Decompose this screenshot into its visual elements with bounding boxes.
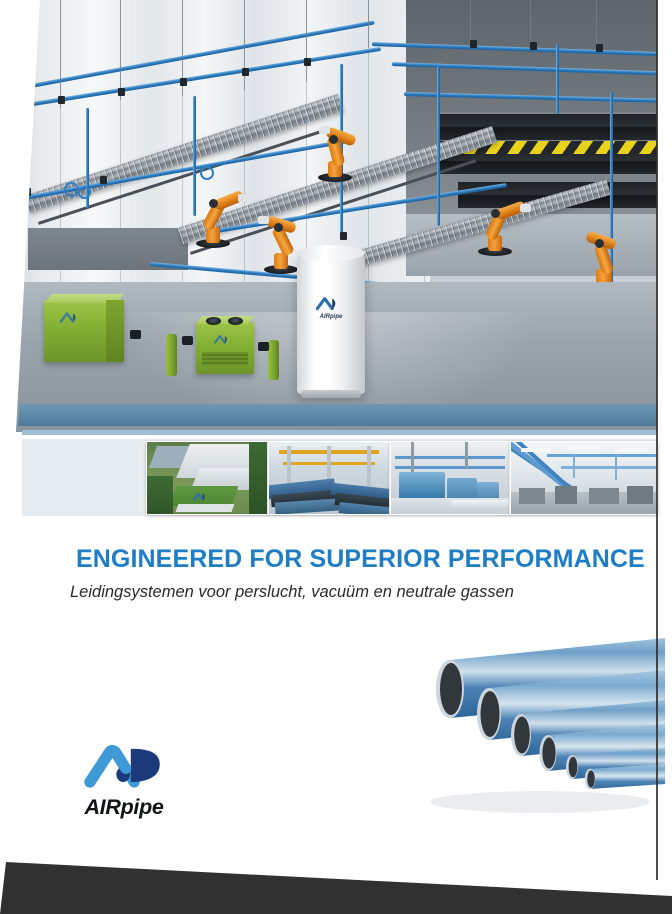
pipe-clamp <box>118 88 125 96</box>
air-hose-reel <box>200 166 214 180</box>
tank-logo: AIRpipe <box>314 296 348 320</box>
green-dryer-top <box>196 316 254 324</box>
dryer-logo <box>214 332 234 344</box>
compressor-logo <box>60 310 84 324</box>
dryer-fan <box>228 317 243 325</box>
brochure-cover-page: AIRpipe <box>0 0 672 914</box>
blue-pipes-artwork <box>420 630 665 820</box>
pipe-clamp <box>304 58 311 66</box>
pipe-clamp <box>180 78 187 86</box>
pipe-clamp <box>340 232 347 240</box>
robot-arm <box>318 126 362 182</box>
green-refrigerant-dryer <box>196 322 254 374</box>
green-compressor-side <box>106 300 124 362</box>
pipe-clamp <box>530 42 537 50</box>
air-filter <box>268 340 279 380</box>
air-pipe-drop <box>556 44 559 114</box>
page-headline: ENGINEERED FOR SUPERIOR PERFORMANCE <box>76 545 645 574</box>
divider-band <box>18 404 657 426</box>
pipe-valve <box>130 330 141 339</box>
pipe-valve <box>258 342 269 351</box>
footer-wedge <box>0 834 672 914</box>
floor-slab-right <box>406 214 672 276</box>
air-pipe-drop <box>437 66 440 226</box>
thumbnail-compressor-room <box>390 441 510 515</box>
page-edge <box>656 0 658 880</box>
hero-image: AIRpipe <box>0 0 672 432</box>
air-receiver-tank: AIRpipe <box>297 252 365 394</box>
air-hose-reel <box>78 186 91 199</box>
pipe-clamp <box>596 44 603 52</box>
pipe-valve <box>182 336 193 345</box>
pipe-clamp <box>470 40 477 48</box>
thumbnail-clean-production-hall <box>510 441 658 515</box>
air-filter <box>166 334 177 376</box>
page-subheadline: Leidingsystemen voor perslucht, vacuüm e… <box>70 583 514 602</box>
thumbnail-pipe-warehouse <box>268 441 390 515</box>
dryer-fan <box>206 317 221 325</box>
robot-arm <box>196 190 240 248</box>
pipe-clamp <box>24 188 31 196</box>
brand-logo: AIRpipe <box>64 742 184 820</box>
robot-arm <box>478 198 524 256</box>
air-hose-reel <box>64 182 79 197</box>
dryer-grille <box>202 352 248 366</box>
airpipe-chevron-mark <box>64 742 184 793</box>
thumbnail-aerial-factory-view <box>146 441 268 515</box>
pipe-clamp <box>58 96 65 104</box>
pipe-clamp <box>242 68 249 76</box>
brand-wordmark: AIRpipe <box>64 795 184 820</box>
pipe-clamp <box>100 176 107 184</box>
